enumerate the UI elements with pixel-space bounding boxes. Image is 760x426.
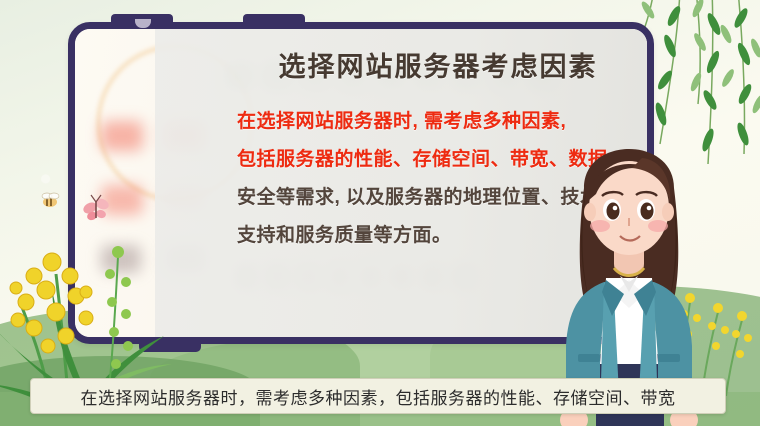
board-tab-top-right — [243, 14, 305, 30]
ghost-block — [101, 121, 143, 151]
caption-text: 在选择网站服务器时，需考虑多种因素，包括服务器的性能、存储空间、带宽 — [81, 384, 676, 409]
bee-icon — [42, 193, 59, 207]
blazer-pocket-left — [578, 354, 600, 362]
slide-canvas: 选择网站服务器考虑因素 在选择网站服务器时, 需考虑多种因素, 包括服务器的性能… — [0, 0, 760, 426]
presenter-avatar — [534, 96, 724, 426]
page-title: 选择网站服务器考虑因素 — [223, 51, 647, 83]
caption-bar: 在选择网站服务器时，需考虑多种因素，包括服务器的性能、存储空间、带宽 — [30, 378, 726, 414]
butterfly-icon — [81, 195, 110, 221]
eye-right — [641, 203, 654, 220]
eye-left — [607, 203, 620, 220]
butterfly-and-bee-icons — [28, 190, 118, 240]
blazer-pocket-right — [658, 354, 680, 362]
